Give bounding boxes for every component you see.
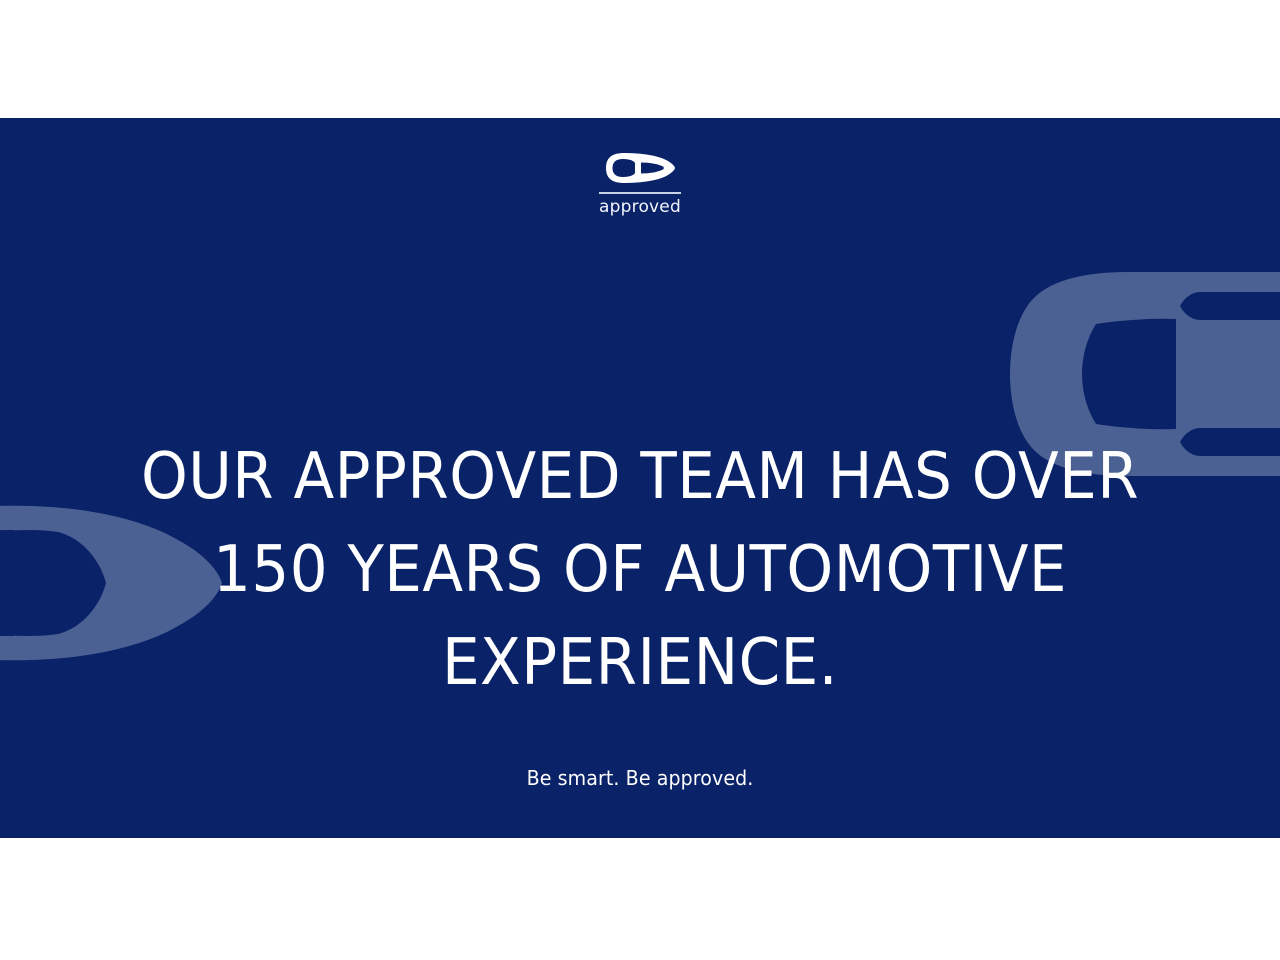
banner-canvas: approved OUR APPROVED TEAM HAS OVER 150 … [0,0,1280,960]
hero-band: approved OUR APPROVED TEAM HAS OVER 150 … [0,118,1280,838]
headline-line-1: OUR APPROVED TEAM HAS OVER [129,431,1152,524]
tagline: Be smart. Be approved. [32,766,1248,790]
headline-line-2: 150 YEARS OF AUTOMOTIVE [129,524,1152,617]
brand-logo: approved [0,152,1280,216]
logo-divider [599,192,681,194]
headline: OUR APPROVED TEAM HAS OVER 150 YEARS OF … [129,431,1152,710]
car-top-view-icon [604,152,676,184]
headline-line-3: EXPERIENCE. [129,617,1152,710]
logo-wordmark: approved [599,199,681,216]
